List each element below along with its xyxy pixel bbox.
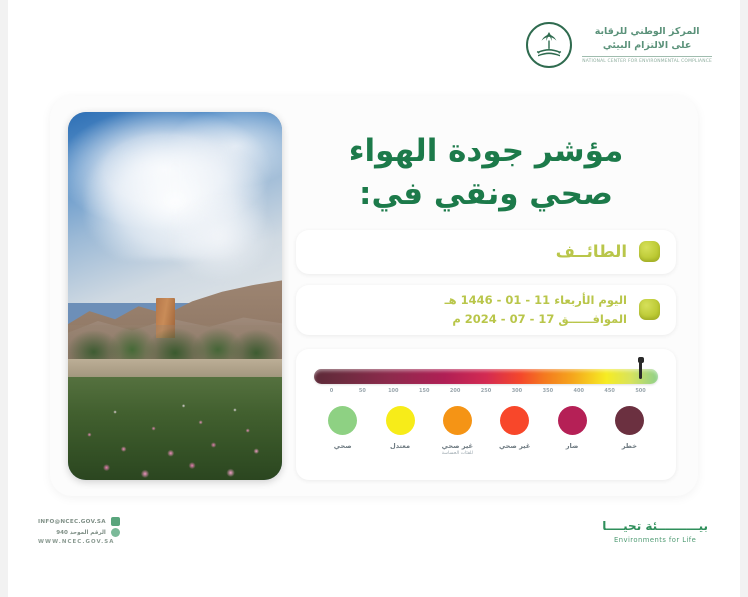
aqi-legend-item: ضار	[543, 406, 600, 458]
aqi-legend-item: غير صحي	[486, 406, 543, 458]
date-hijri: اليوم الأربعاء 11 - 01 - 1446 هـ	[445, 291, 627, 310]
contact-info: INFO@NCEC.GOV.SA الرقم الموحد 940 WWW.NC…	[38, 517, 120, 545]
page-header: المركز الوطني للرقابة على الالتزام البيئ…	[0, 0, 748, 92]
aqi-gauge: 500450400350300250200150100500	[310, 361, 662, 394]
aqi-tick-5: 250	[471, 388, 502, 394]
mail-icon	[111, 517, 120, 526]
aqi-legend-swatch-0	[615, 406, 644, 435]
aqi-tick-8: 100	[378, 388, 409, 394]
aqi-tick-7: 150	[409, 388, 440, 394]
aqi-gradient-bar	[314, 369, 658, 384]
taif-landscape-photo	[68, 112, 282, 480]
aqi-axis-ticks: 500450400350300250200150100500	[314, 388, 658, 394]
contact-phone-row[interactable]: الرقم الموحد 940	[38, 528, 120, 537]
aqi-legend-swatch-2	[500, 406, 529, 435]
brand-name-ar: بيــــــــــئة تحيــــا	[602, 519, 708, 535]
contact-email: INFO@NCEC.GOV.SA	[38, 519, 106, 525]
date-card: اليوم الأربعاء 11 - 01 - 1446 هـ الموافـ…	[296, 285, 676, 335]
aqi-tick-3: 350	[532, 388, 563, 394]
photo-rose-field	[68, 377, 282, 480]
aqi-tick-9: 50	[347, 388, 378, 394]
aqi-legend-label-3: غير صحيللفئات الحساسة	[442, 442, 473, 458]
headline-line-1: مؤشر جودة الهواء	[349, 133, 624, 169]
aqi-tick-2: 400	[563, 388, 594, 394]
content-column: مؤشر جودة الهواء صحي ونقي في: الطائــف ا…	[296, 112, 676, 480]
aqi-legend-swatch-4	[386, 406, 415, 435]
aqi-legend-item: صحي	[314, 406, 371, 458]
aqi-legend-swatch-3	[443, 406, 472, 435]
aqi-tick-6: 200	[440, 388, 471, 394]
organization-logo: المركز الوطني للرقابة على الالتزام البيئ…	[526, 22, 712, 68]
aqi-legend-swatch-1	[558, 406, 587, 435]
city-card: الطائــف	[296, 230, 676, 274]
date-gregorian: الموافــــــق 17 - 07 - 2024 م	[445, 310, 627, 329]
aqi-legend-label-2: غير صحي	[499, 442, 530, 451]
contact-phone: الرقم الموحد 940	[56, 530, 106, 536]
aqi-marker-needle-icon	[639, 357, 642, 379]
saudi-palm-swords-emblem-icon	[526, 22, 572, 68]
aqi-scale-card: 500450400350300250200150100500 خطرضارغير…	[296, 349, 676, 480]
aqi-legend-label-1: ضار	[566, 442, 579, 451]
wordmark-divider	[582, 56, 712, 57]
aqi-tick-4: 300	[501, 388, 532, 394]
aqi-legend-item: غير صحيللفئات الحساسة	[429, 406, 486, 458]
org-name-en: NATIONAL CENTER FOR ENVIRONMENTAL COMPLI…	[582, 59, 712, 65]
aqi-tick-10: 0	[316, 388, 347, 394]
brand-name-en: Environments for Life	[602, 536, 708, 544]
org-name-ar-line2: على الالتزام البيئي	[582, 39, 712, 53]
aqi-legend-item: معتدل	[371, 406, 428, 458]
aqi-legend-label-5: صحي	[334, 442, 352, 451]
aqi-legend-item: خطر	[601, 406, 658, 458]
city-status-badge-icon	[639, 241, 660, 262]
main-content-card: مؤشر جودة الهواء صحي ونقي في: الطائــف ا…	[50, 96, 698, 496]
date-text: اليوم الأربعاء 11 - 01 - 1446 هـ الموافـ…	[445, 291, 627, 329]
page-footer: INFO@NCEC.GOV.SA الرقم الموحد 940 WWW.NC…	[0, 511, 748, 597]
aqi-legend-sublabel-3: للفئات الحساسة	[442, 451, 473, 457]
aqi-legend-label-0: خطر	[622, 442, 637, 451]
organization-wordmark: المركز الوطني للرقابة على الالتزام البيئ…	[582, 25, 712, 64]
aqi-legend-swatch-5	[328, 406, 357, 435]
photo-column	[68, 112, 282, 480]
phone-icon	[111, 528, 120, 537]
date-badge-icon	[639, 299, 660, 320]
poster-page: المركز الوطني للرقابة على الالتزام البيئ…	[0, 0, 748, 597]
page-title: مؤشر جودة الهواء صحي ونقي في:	[296, 130, 676, 216]
contact-website[interactable]: WWW.NCEC.GOV.SA	[38, 539, 120, 545]
aqi-legend-label-4: معتدل	[390, 442, 410, 451]
headline-line-2: صحي ونقي في:	[304, 173, 668, 216]
aqi-tick-0: 500	[625, 388, 656, 394]
photo-cloud-small	[166, 193, 273, 281]
city-name: الطائــف	[556, 242, 627, 261]
environments-for-life-logo: بيــــــــــئة تحيــــا Environments for…	[602, 519, 708, 544]
contact-email-row[interactable]: INFO@NCEC.GOV.SA	[38, 517, 120, 526]
aqi-legend: خطرضارغير صحيغير صحيللفئات الحساسةمعتدلص…	[310, 406, 662, 458]
aqi-tick-1: 450	[594, 388, 625, 394]
org-name-ar-line1: المركز الوطني للرقابة	[582, 25, 712, 39]
